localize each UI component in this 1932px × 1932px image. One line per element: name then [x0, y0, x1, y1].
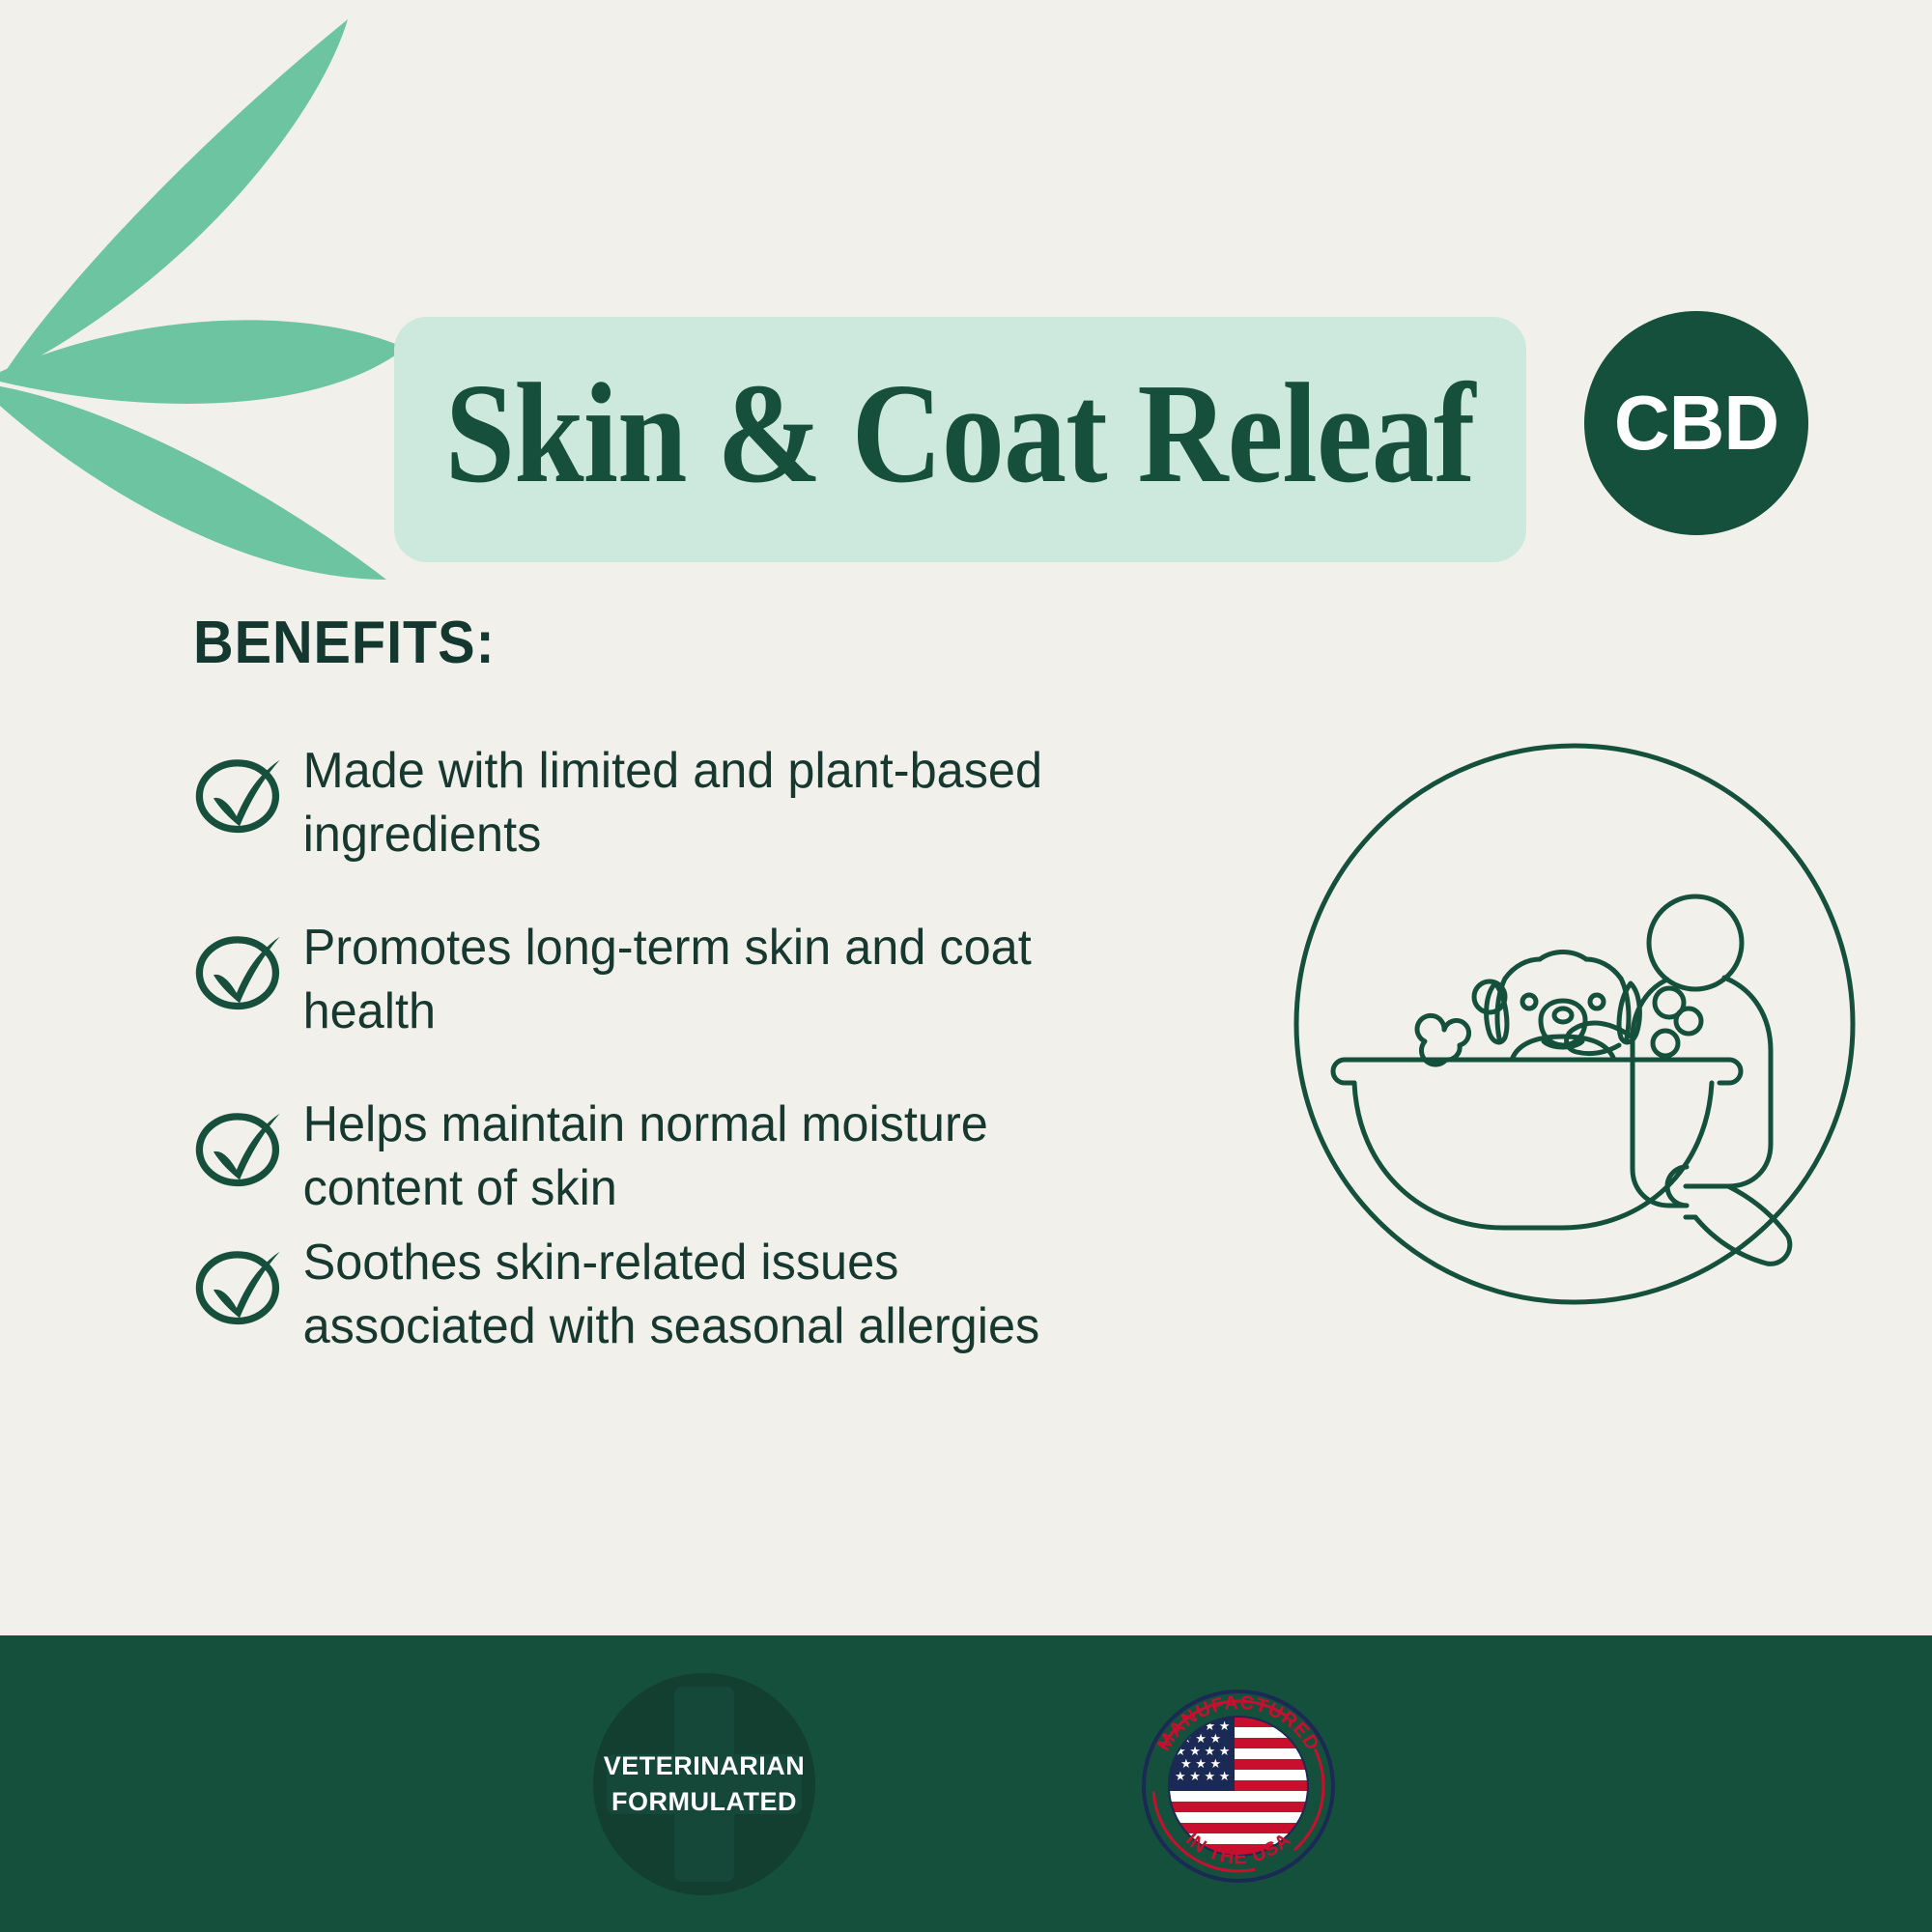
footer-badges: VETERINARIAN FORMULATED: [0, 1635, 1932, 1932]
benefits-heading: BENEFITS:: [193, 609, 496, 677]
veterinarian-formulated-label: VETERINARIAN FORMULATED: [604, 1748, 806, 1818]
dog-bath-illustration: [1285, 734, 1864, 1314]
list-item: Helps maintain normal moisture content o…: [189, 1090, 1165, 1220]
title-pill: Skin & Coat Releaf: [394, 317, 1526, 562]
title-banner: Skin & Coat Releaf: [394, 317, 1526, 562]
circled-check-icon: [189, 919, 290, 1019]
cbd-badge-label: CBD: [1614, 384, 1778, 462]
page-title: Skin & Coat Releaf: [445, 362, 1475, 505]
circled-check-icon: [189, 1234, 290, 1334]
veterinarian-formulated-badge: VETERINARIAN FORMULATED: [591, 1671, 817, 1897]
footer-bar: VETERINARIAN FORMULATED: [0, 1635, 1932, 1932]
circled-check-icon: [189, 742, 290, 842]
list-item: Made with limited and plant-based ingred…: [189, 736, 1165, 867]
manufactured-in-usa-badge: ★ ★ ★ ★ ★ ★ ★ ★ ★ ★ ★ ★ ★ ★ ★ ★ ★ ★ MANU…: [1136, 1682, 1341, 1887]
list-item: Promotes long-term skin and coat health: [189, 913, 1165, 1043]
list-item-label: Made with limited and plant-based ingred…: [290, 736, 1099, 867]
list-item-label: Promotes long-term skin and coat health: [290, 913, 1099, 1043]
list-item-label: Soothes skin-related issues associated w…: [290, 1228, 1099, 1358]
cbd-badge: CBD: [1584, 311, 1808, 535]
list-item: Soothes skin-related issues associated w…: [189, 1228, 1165, 1358]
list-item-label: Helps maintain normal moisture content o…: [290, 1090, 1099, 1220]
circled-check-icon: [189, 1095, 290, 1196]
benefits-list: Made with limited and plant-based ingred…: [189, 736, 1165, 1383]
usa-flag-seal-icon: ★ ★ ★ ★ ★ ★ ★ ★ ★ ★ ★ ★ ★ ★ ★ ★ ★ ★ MANU…: [1136, 1682, 1341, 1887]
svg-text:★ ★ ★ ★: ★ ★ ★ ★: [1175, 1769, 1230, 1783]
